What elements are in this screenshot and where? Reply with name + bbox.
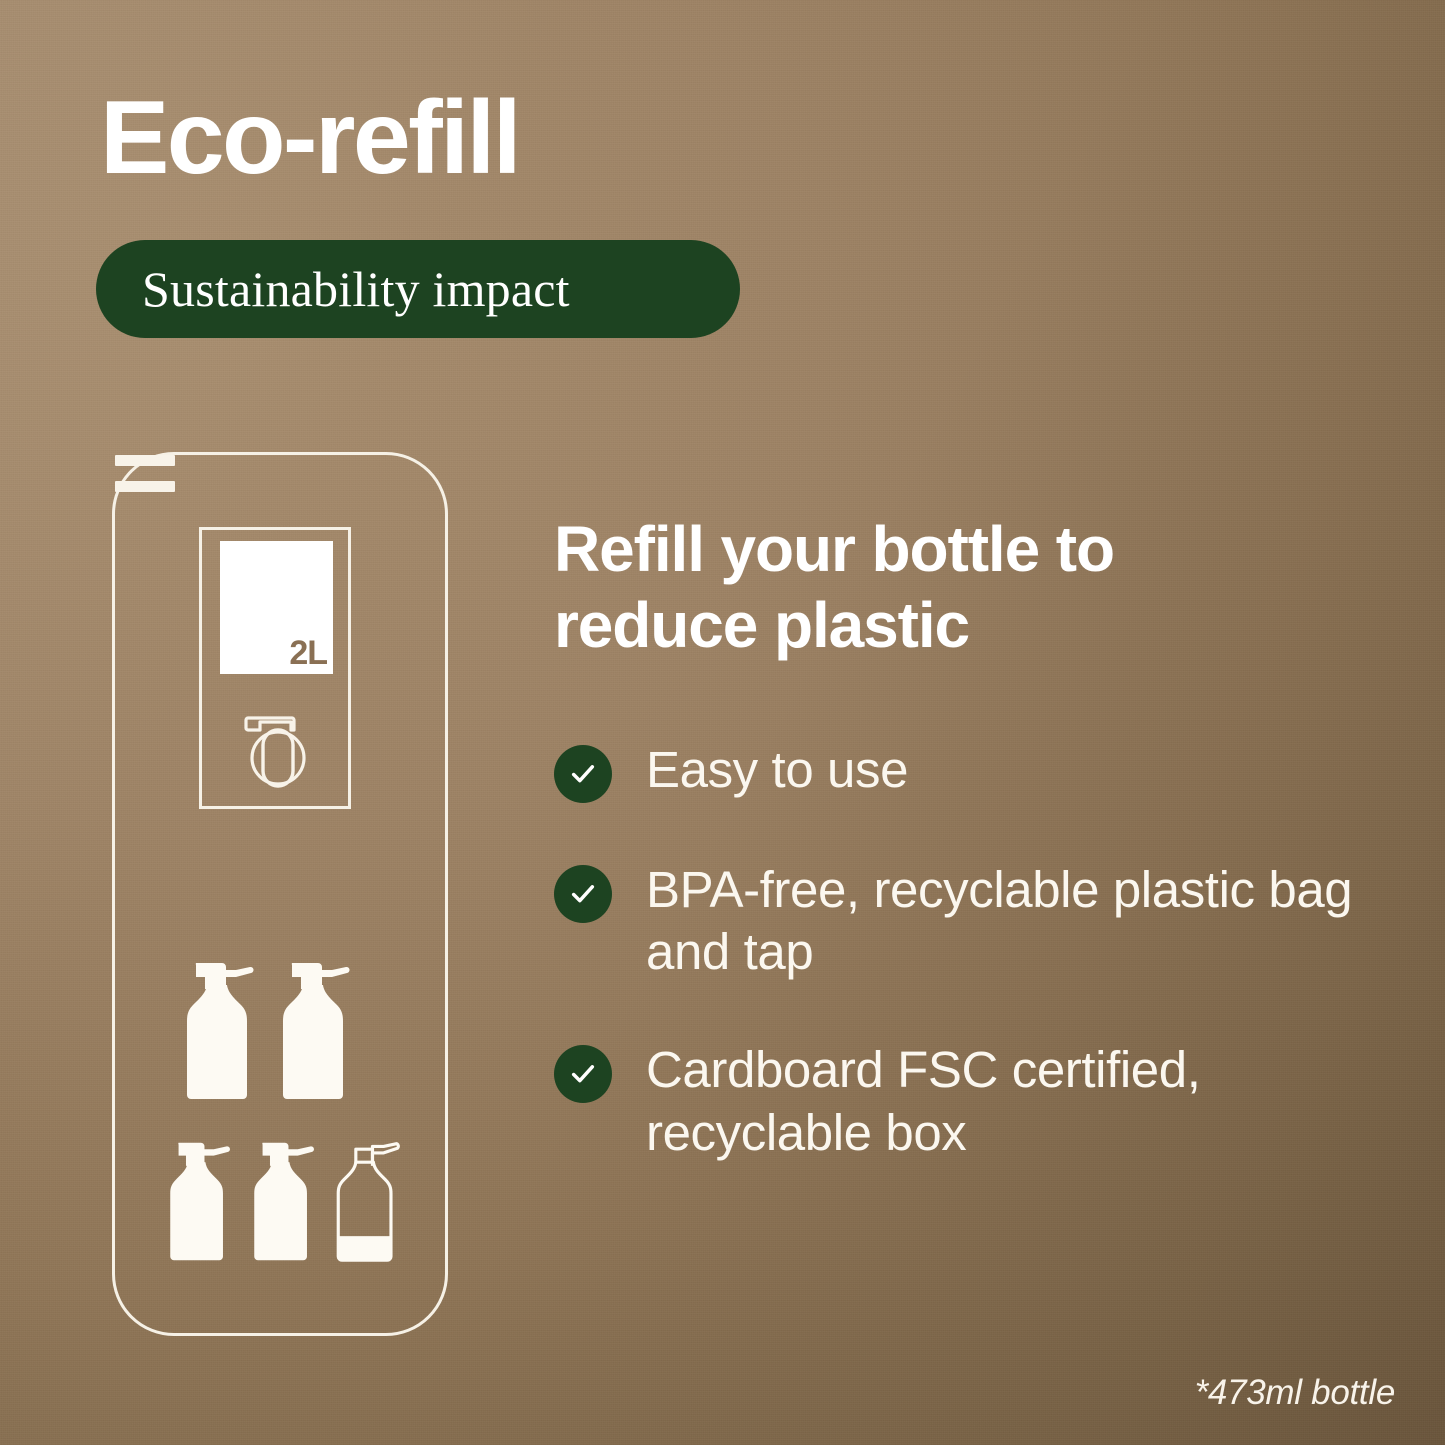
equals-bar-bottom [115, 481, 175, 492]
equals-symbol-icon [115, 455, 175, 495]
list-item-label: BPA-free, recyclable plastic bag and tap [646, 859, 1386, 983]
subheading: Refill your bottle to reduce plastic [554, 512, 1274, 663]
list-item: Cardboard FSC certified, recyclable box [554, 1039, 1404, 1163]
list-item-label: Cardboard FSC certified, recyclable box [646, 1039, 1386, 1163]
list-item-label: Easy to use [646, 739, 908, 801]
pump-bottle-full-icon [245, 1137, 319, 1265]
equals-bar-top [115, 455, 175, 466]
refill-box-label: 2L [220, 541, 333, 674]
pump-bottle-full-icon [161, 1137, 235, 1265]
pump-bottle-partial-icon [329, 1137, 403, 1265]
bottle-row-three: * [161, 1137, 403, 1265]
pump-bottle-full-icon [273, 955, 353, 1105]
list-item: Easy to use [554, 739, 1404, 803]
refill-box-volume-text: 2L [289, 636, 327, 670]
check-icon [554, 1045, 612, 1103]
footnote: *473ml bottle [1195, 1373, 1395, 1413]
benefits-list: Easy to use BPA-free, recyclable plastic… [554, 739, 1404, 1164]
page-title: Eco-refill [100, 86, 519, 190]
sustainability-impact-badge: Sustainability impact [96, 240, 740, 338]
pump-bottle-full-icon [177, 955, 257, 1105]
benefits-panel: Refill your bottle to reduce plastic Eas… [554, 512, 1404, 1164]
refill-box-outline: 2L [199, 527, 351, 809]
badge-label: Sustainability impact [142, 260, 570, 318]
check-icon [554, 745, 612, 803]
check-icon [554, 865, 612, 923]
refill-illustration-frame: 2L [112, 452, 448, 1336]
tap-spigot-icon [232, 708, 324, 792]
bottle-row-two [177, 955, 353, 1105]
list-item: BPA-free, recyclable plastic bag and tap [554, 859, 1404, 983]
